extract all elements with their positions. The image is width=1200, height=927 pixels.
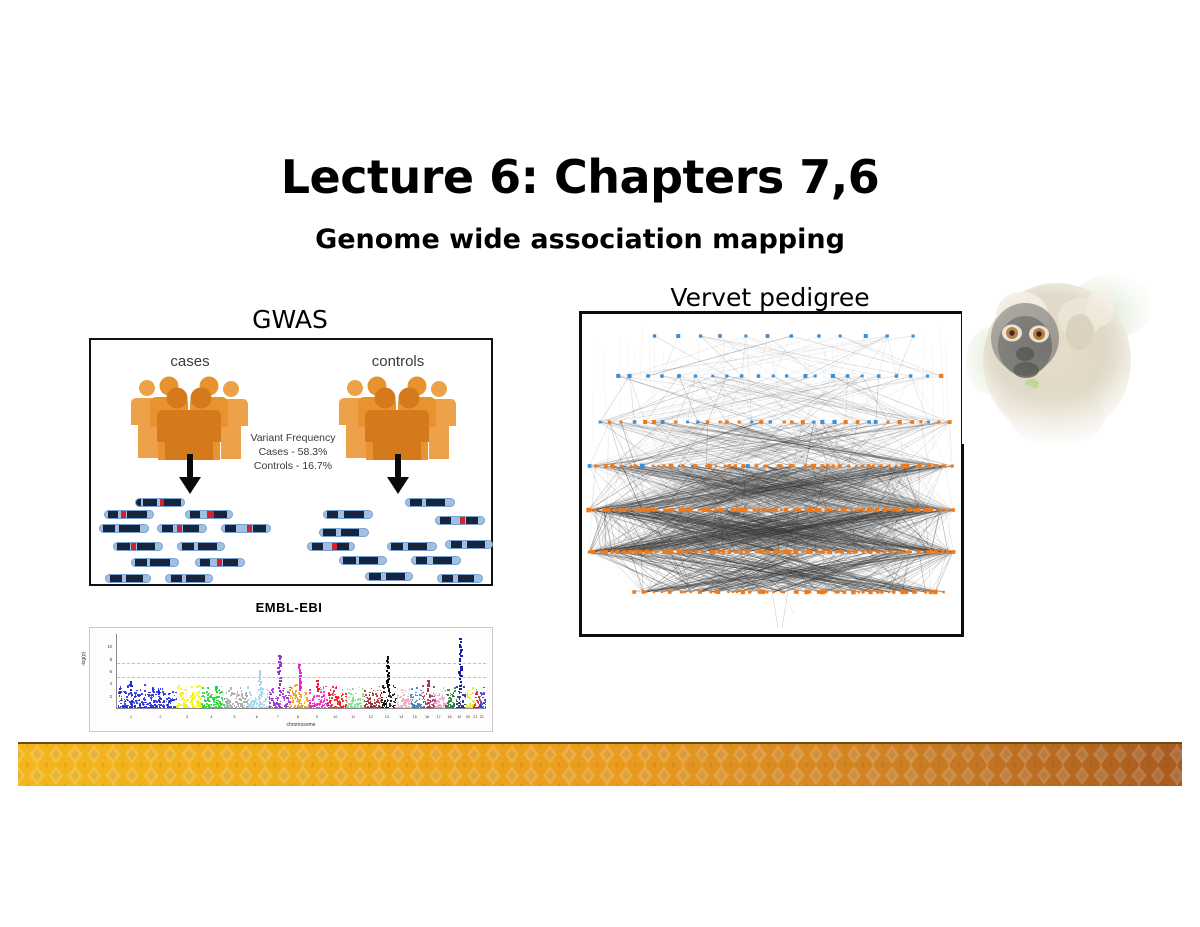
pedigree-descendant-node bbox=[642, 590, 646, 594]
cases-down-arrow-icon bbox=[179, 454, 201, 494]
pedigree-descendant-node bbox=[691, 551, 693, 553]
manhattan-point bbox=[271, 689, 273, 691]
manhattan-point bbox=[476, 691, 478, 693]
manhattan-peak-point bbox=[388, 690, 390, 692]
manhattan-point bbox=[441, 697, 443, 699]
pedigree-descendant-node bbox=[736, 591, 739, 594]
manhattan-point bbox=[485, 706, 486, 708]
pedigree-descendant-node bbox=[883, 508, 888, 513]
pedigree-founder-node bbox=[599, 421, 602, 424]
manhattan-peak-point bbox=[427, 690, 429, 692]
pedigree-founder-node bbox=[633, 420, 637, 424]
manhattan-peak-point bbox=[298, 666, 300, 668]
pedigree-descendant-node bbox=[892, 590, 896, 594]
manhattan-point bbox=[213, 704, 215, 706]
pedigree-founder-node bbox=[895, 374, 899, 378]
pedigree-descendant-node bbox=[818, 508, 822, 512]
manhattan-point bbox=[426, 693, 428, 695]
manhattan-point bbox=[118, 693, 120, 695]
chromosome-band bbox=[150, 559, 169, 566]
manhattan-point bbox=[338, 707, 340, 709]
manhattan-x-tick: 21 bbox=[473, 715, 477, 719]
pedigree-founder-node bbox=[831, 374, 835, 378]
pedigree-descendant-node bbox=[923, 508, 927, 512]
manhattan-y-tick: 4 bbox=[96, 681, 112, 686]
manhattan-point bbox=[381, 699, 383, 701]
pedigree-descendant-node bbox=[643, 508, 646, 511]
pedigree-descendant-node bbox=[619, 508, 623, 512]
chromosome-band bbox=[200, 559, 211, 566]
manhattan-point bbox=[411, 701, 413, 703]
pedigree-descendant-node bbox=[771, 509, 774, 512]
manhattan-point bbox=[474, 704, 476, 706]
manhattan-peak-top bbox=[316, 680, 318, 682]
manhattan-point bbox=[319, 703, 321, 705]
manhattan-point bbox=[129, 706, 131, 708]
manhattan-point bbox=[328, 692, 330, 694]
pedigree-descendant-node bbox=[856, 420, 860, 424]
manhattan-chromosome-band bbox=[147, 634, 176, 708]
chromosome-bar bbox=[411, 556, 461, 565]
pedigree-descendant-node bbox=[787, 550, 791, 554]
manhattan-point bbox=[159, 707, 161, 709]
manhattan-point bbox=[221, 686, 223, 688]
manhattan-point bbox=[342, 689, 344, 691]
manhattan-x-tick: 6 bbox=[256, 715, 258, 719]
pedigree-descendant-node bbox=[683, 508, 687, 512]
pedigree-descendant-node bbox=[790, 420, 794, 424]
manhattan-point bbox=[376, 704, 378, 706]
manhattan-point bbox=[180, 688, 182, 690]
pedigree-founder-node bbox=[691, 465, 694, 468]
chromosome-band bbox=[458, 575, 474, 582]
manhattan-peak-point bbox=[460, 669, 462, 671]
chromosome-band bbox=[162, 525, 174, 532]
page-title: Lecture 6: Chapters 7,6 bbox=[0, 150, 1160, 204]
pedigree-descendant-node bbox=[895, 508, 899, 512]
manhattan-point bbox=[334, 699, 336, 701]
manhattan-point bbox=[359, 687, 361, 689]
chromosome-bar bbox=[323, 510, 373, 519]
manhattan-x-tick: 12 bbox=[369, 715, 373, 719]
chromosome-band bbox=[343, 557, 356, 564]
manhattan-point bbox=[264, 707, 266, 709]
manhattan-point bbox=[353, 707, 355, 709]
pedigree-descendant-node bbox=[844, 420, 848, 424]
chromosome-band bbox=[103, 525, 115, 532]
pedigree-founder-node bbox=[696, 420, 699, 423]
pedigree-founder-node bbox=[833, 420, 837, 424]
pedigree-descendant-node bbox=[868, 590, 872, 594]
pedigree-descendant-node bbox=[761, 508, 764, 511]
pedigree-descendant-node bbox=[588, 551, 591, 554]
manhattan-point bbox=[185, 697, 187, 699]
manhattan-point bbox=[208, 687, 210, 689]
manhattan-chromosome-band bbox=[434, 634, 445, 708]
pedigree-descendant-node bbox=[938, 508, 942, 512]
variant-frequency-block: Variant Frequency Cases - 58.3% Controls… bbox=[231, 432, 355, 474]
manhattan-point bbox=[198, 696, 200, 698]
controls-down-arrow-icon bbox=[387, 454, 409, 494]
pedigree-descendant-node bbox=[880, 590, 883, 593]
manhattan-point bbox=[133, 698, 135, 700]
manhattan-point bbox=[356, 704, 358, 706]
chromosome-band bbox=[410, 499, 422, 506]
manhattan-peak-point bbox=[459, 673, 461, 675]
manhattan-point bbox=[193, 707, 195, 709]
manhattan-chromosome-band bbox=[117, 634, 147, 708]
manhattan-point bbox=[480, 701, 482, 703]
pedigree-descendant-node bbox=[761, 590, 765, 594]
pedigree-descendant-node bbox=[683, 591, 686, 594]
pedigree-founder-node bbox=[616, 374, 620, 378]
manhattan-point bbox=[144, 690, 146, 692]
manhattan-point bbox=[221, 691, 223, 693]
manhattan-chromosome-band bbox=[395, 634, 409, 708]
manhattan-point bbox=[333, 690, 335, 692]
manhattan-point bbox=[473, 706, 475, 708]
pedigree-founder-node bbox=[725, 374, 728, 377]
manhattan-x-tick: 17 bbox=[437, 715, 441, 719]
manhattan-point bbox=[235, 707, 237, 709]
pedigree-descendant-node bbox=[888, 464, 891, 467]
manhattan-point bbox=[173, 706, 175, 708]
manhattan-point bbox=[390, 701, 392, 703]
pedigree-descendant-node bbox=[650, 550, 653, 553]
chromosome-band bbox=[117, 543, 130, 550]
manhattan-point bbox=[437, 695, 439, 697]
pedigree-founder-node bbox=[757, 374, 761, 378]
manhattan-point bbox=[352, 688, 354, 690]
chromosome-bar bbox=[157, 524, 207, 533]
pedigree-descendant-node bbox=[698, 590, 702, 594]
pedigree-founder-node bbox=[926, 375, 929, 378]
manhattan-point bbox=[469, 697, 471, 699]
manhattan-point bbox=[419, 698, 421, 700]
manhattan-point bbox=[182, 694, 184, 696]
pedigree-descendant-node bbox=[946, 550, 950, 554]
manhattan-point bbox=[423, 686, 425, 688]
manhattan-point bbox=[189, 707, 191, 709]
chromosome-band bbox=[225, 525, 237, 532]
manhattan-point bbox=[284, 699, 286, 701]
pedigree-descendant-node bbox=[634, 550, 638, 554]
manhattan-point bbox=[186, 686, 188, 688]
pedigree-descendant-node bbox=[888, 591, 890, 593]
pedigree-descendant-node bbox=[591, 509, 593, 511]
pedigree-descendant-node bbox=[773, 591, 775, 593]
manhattan-peak-point bbox=[387, 684, 389, 686]
pedigree-descendant-node bbox=[913, 508, 917, 512]
manhattan-point bbox=[144, 684, 146, 686]
manhattan-point bbox=[339, 703, 341, 705]
manhattan-chromosome-band bbox=[456, 634, 465, 708]
manhattan-point bbox=[242, 697, 244, 699]
pedigree-descendant-node bbox=[920, 421, 923, 424]
manhattan-point bbox=[485, 704, 486, 706]
manhattan-x-tick: 7 bbox=[277, 715, 279, 719]
pedigree-descendant-node bbox=[765, 509, 768, 512]
chromosome-band bbox=[143, 499, 157, 506]
manhattan-point bbox=[158, 704, 160, 706]
manhattan-point bbox=[430, 701, 432, 703]
pedigree-descendant-node bbox=[843, 508, 847, 512]
pedigree-descendant-node bbox=[908, 508, 911, 511]
manhattan-x-tick: 5 bbox=[234, 715, 236, 719]
manhattan-point bbox=[147, 703, 149, 705]
pedigree-descendant-node bbox=[783, 421, 786, 424]
pedigree-descendant-node bbox=[724, 465, 727, 468]
manhattan-point bbox=[152, 690, 154, 692]
manhattan-point bbox=[227, 706, 229, 708]
pedigree-descendant-node bbox=[654, 551, 657, 554]
pedigree-descendant-node bbox=[669, 464, 674, 469]
manhattan-point bbox=[244, 701, 246, 703]
chromosome-band bbox=[344, 511, 364, 518]
manhattan-peak-point bbox=[386, 665, 388, 667]
pedigree-descendant-node bbox=[701, 551, 704, 554]
pedigree-founder-node bbox=[785, 374, 788, 377]
manhattan-point bbox=[185, 706, 187, 708]
manhattan-point bbox=[317, 707, 319, 709]
manhattan-chromosome-band bbox=[422, 634, 434, 708]
cases-chromosome-group bbox=[99, 498, 289, 584]
manhattan-peak-point bbox=[427, 684, 429, 686]
chromosome-band bbox=[327, 511, 339, 518]
pedigree-descendant-node bbox=[714, 508, 718, 512]
manhattan-chromosome-band bbox=[309, 634, 328, 708]
manhattan-point bbox=[283, 691, 285, 693]
pedigree-founder-node bbox=[846, 374, 850, 378]
manhattan-point bbox=[471, 707, 473, 709]
chromosome-bar bbox=[113, 542, 163, 551]
pedigree-descendant-node bbox=[929, 550, 933, 554]
pedigree-founder-node bbox=[812, 421, 815, 424]
manhattan-point bbox=[365, 701, 367, 703]
pedigree-descendant-node bbox=[820, 590, 825, 595]
manhattan-point bbox=[160, 688, 162, 690]
pedigree-descendant-node bbox=[744, 508, 748, 512]
pedigree-descendant-node bbox=[741, 464, 745, 468]
manhattan-peak-point bbox=[278, 673, 280, 675]
manhattan-point bbox=[439, 698, 441, 700]
manhattan-point bbox=[300, 694, 302, 696]
pedigree-descendant-node bbox=[910, 551, 912, 553]
pedigree-descendant-node bbox=[779, 464, 783, 468]
pedigree-descendant-node bbox=[875, 508, 879, 512]
manhattan-point bbox=[459, 698, 461, 700]
manhattan-point bbox=[401, 700, 403, 702]
pedigree-descendant-node bbox=[603, 550, 607, 554]
manhattan-peak-point bbox=[258, 680, 260, 682]
variant-marker bbox=[121, 511, 126, 518]
variant-frequency-cases: Cases - 58.3% bbox=[231, 446, 355, 460]
manhattan-point bbox=[389, 705, 391, 707]
manhattan-x-tick: 15 bbox=[413, 715, 417, 719]
manhattan-point bbox=[314, 695, 316, 697]
manhattan-point bbox=[341, 695, 343, 697]
pedigree-descendant-node bbox=[900, 551, 903, 554]
chromosome-band bbox=[214, 511, 228, 518]
manhattan-point bbox=[359, 698, 361, 700]
pedigree-descendant-node bbox=[610, 550, 614, 554]
manhattan-peak-point bbox=[299, 686, 301, 688]
manhattan-point bbox=[460, 692, 462, 694]
pedigree-descendant-node bbox=[606, 508, 610, 512]
pedigree-founder-node bbox=[864, 334, 868, 338]
manhattan-point bbox=[373, 690, 375, 692]
manhattan-peak-point bbox=[130, 689, 132, 691]
manhattan-point bbox=[189, 697, 191, 699]
manhattan-point bbox=[211, 704, 213, 706]
manhattan-peak-point bbox=[460, 666, 462, 668]
manhattan-chromosome-band bbox=[345, 634, 363, 708]
manhattan-point bbox=[477, 707, 479, 709]
manhattan-point bbox=[469, 694, 471, 696]
manhattan-point bbox=[193, 697, 195, 699]
manhattan-point bbox=[458, 702, 460, 704]
pedigree-founder-node bbox=[711, 375, 714, 378]
pedigree-descendant-node bbox=[652, 465, 655, 468]
manhattan-point bbox=[305, 707, 307, 709]
manhattan-peak-point bbox=[299, 681, 301, 683]
pedigree-descendant-node bbox=[774, 508, 778, 512]
pedigree-founder-node bbox=[874, 420, 878, 424]
pedigree-descendant-node bbox=[933, 590, 937, 594]
pedigree-descendant-node bbox=[619, 421, 622, 424]
manhattan-point bbox=[416, 687, 418, 689]
pedigree-descendant-node bbox=[855, 465, 857, 467]
manhattan-peak-top bbox=[278, 655, 280, 657]
manhattan-point bbox=[235, 698, 237, 700]
pedigree-descendant-node bbox=[850, 509, 853, 512]
manhattan-peak-top bbox=[215, 686, 217, 688]
pedigree-descendant-node bbox=[812, 464, 817, 469]
pedigree-descendant-node bbox=[838, 464, 842, 468]
manhattan-point bbox=[239, 707, 241, 709]
manhattan-point bbox=[349, 703, 351, 705]
chromosome-band bbox=[442, 575, 453, 582]
manhattan-point bbox=[244, 698, 246, 700]
manhattan-point bbox=[183, 699, 185, 701]
manhattan-point bbox=[144, 704, 146, 706]
manhattan-point bbox=[405, 702, 407, 704]
manhattan-point bbox=[119, 707, 121, 709]
pedigree-descendant-node bbox=[614, 509, 617, 512]
manhattan-chromosome-band bbox=[289, 634, 309, 708]
manhattan-point bbox=[416, 695, 418, 697]
pedigree-founder-node bbox=[886, 334, 889, 337]
pedigree-descendant-node bbox=[809, 591, 812, 594]
pedigree-descendant-node bbox=[905, 551, 908, 554]
manhattan-peak-point bbox=[279, 683, 281, 685]
pedigree-descendant-node bbox=[915, 465, 917, 467]
manhattan-peak-point bbox=[458, 671, 460, 673]
pedigree-founder-node bbox=[912, 335, 915, 338]
manhattan-point bbox=[306, 697, 308, 699]
manhattan-point bbox=[177, 697, 179, 699]
chromosome-bar bbox=[339, 556, 387, 565]
manhattan-point bbox=[226, 692, 228, 694]
manhattan-point bbox=[279, 707, 281, 709]
pedigree-descendant-node bbox=[832, 465, 835, 468]
pedigree-founder-node bbox=[661, 420, 665, 424]
manhattan-point bbox=[330, 705, 332, 707]
pedigree-descendant-node bbox=[669, 550, 673, 554]
pedigree-descendant-node bbox=[710, 591, 713, 594]
manhattan-peak-point bbox=[459, 658, 461, 660]
manhattan-point bbox=[348, 697, 350, 699]
manhattan-point bbox=[371, 688, 373, 690]
pedigree-descendant-node bbox=[814, 508, 818, 512]
manhattan-point bbox=[266, 698, 268, 700]
manhattan-point bbox=[131, 696, 133, 698]
pedigree-descendant-node bbox=[858, 591, 861, 594]
manhattan-x-tick: 10 bbox=[333, 715, 337, 719]
manhattan-point bbox=[371, 703, 373, 705]
chromosome-band bbox=[164, 499, 181, 506]
chromosome-bar bbox=[105, 574, 151, 583]
manhattan-point bbox=[269, 706, 271, 708]
pedigree-descendant-node bbox=[818, 551, 821, 554]
manhattan-point bbox=[295, 694, 297, 696]
pedigree-descendant-node bbox=[753, 508, 757, 512]
manhattan-point bbox=[204, 696, 206, 698]
manhattan-point bbox=[247, 707, 249, 709]
pedigree-descendant-node bbox=[778, 551, 781, 554]
manhattan-point bbox=[305, 693, 307, 695]
chromosome-bar bbox=[195, 558, 245, 567]
pedigree-descendant-node bbox=[653, 591, 655, 593]
manhattan-chromosome-band bbox=[380, 634, 395, 708]
manhattan-point bbox=[448, 689, 450, 691]
manhattan-x-tick: 14 bbox=[399, 715, 403, 719]
pedigree-descendant-node bbox=[798, 508, 801, 511]
manhattan-chromosome-band bbox=[363, 634, 380, 708]
pedigree-descendant-node bbox=[663, 551, 665, 553]
manhattan-x-tick: 8 bbox=[297, 715, 299, 719]
pedigree-descendant-node bbox=[918, 509, 921, 512]
pedigree-descendant-node bbox=[736, 551, 739, 554]
controls-chromosome-group bbox=[303, 498, 493, 584]
manhattan-point bbox=[222, 699, 224, 701]
manhattan-point bbox=[261, 707, 263, 709]
pedigree-descendant-node bbox=[828, 550, 833, 555]
pedigree-descendant-node bbox=[685, 550, 688, 553]
manhattan-point bbox=[140, 689, 142, 691]
pedigree-descendant-node bbox=[727, 591, 729, 593]
manhattan-point bbox=[294, 698, 296, 700]
manhattan-point bbox=[346, 699, 348, 701]
manhattan-peak-point bbox=[259, 684, 261, 686]
pedigree-descendant-node bbox=[944, 509, 947, 512]
manhattan-point bbox=[162, 688, 164, 690]
manhattan-point bbox=[316, 695, 318, 697]
gwas-diagram: cases controls bbox=[89, 338, 493, 586]
chromosome-bar bbox=[221, 524, 271, 533]
manhattan-chromosome-band bbox=[269, 634, 290, 708]
manhattan-point bbox=[186, 700, 188, 702]
pedigree-descendant-node bbox=[643, 420, 647, 424]
manhattan-point bbox=[313, 705, 315, 707]
manhattan-chromosome-band bbox=[200, 634, 224, 708]
manhattan-point bbox=[377, 690, 379, 692]
pedigree-descendant-node bbox=[719, 421, 722, 424]
manhattan-point bbox=[323, 687, 325, 689]
manhattan-point bbox=[141, 693, 143, 695]
pedigree-descendant-node bbox=[948, 420, 952, 424]
pedigree-descendant-node bbox=[666, 509, 669, 512]
